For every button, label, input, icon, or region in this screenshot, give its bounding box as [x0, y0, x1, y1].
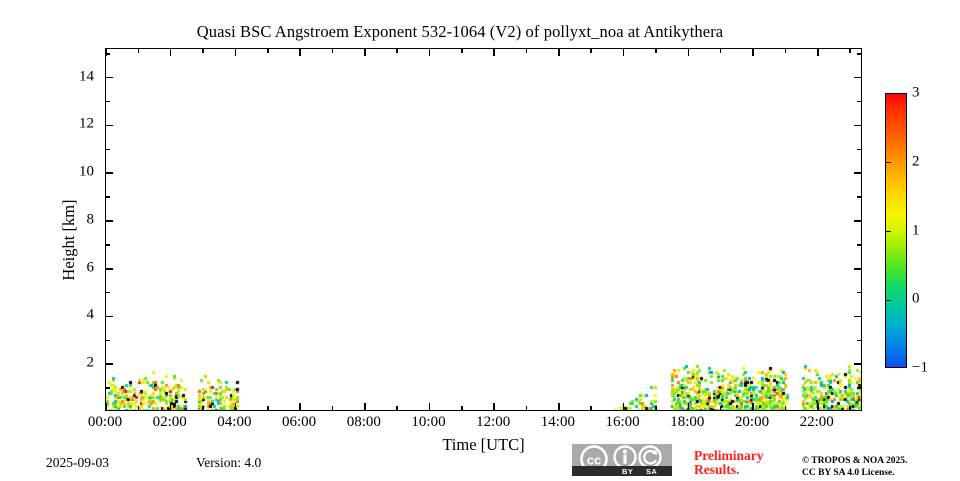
y-tick-major [106, 316, 113, 318]
x-tick-major [752, 49, 754, 56]
x-tick-major [493, 49, 495, 56]
y-tick-major [854, 363, 861, 365]
y-tick-minor [106, 292, 110, 294]
x-tick-label: 10:00 [411, 414, 445, 431]
cc-by-label: BY [622, 467, 633, 476]
x-tick-label: 22:00 [800, 414, 834, 431]
x-tick-minor [526, 406, 528, 410]
y-tick-major [854, 268, 861, 270]
y-tick-label: 14 [50, 68, 94, 85]
preliminary-line-2: Results. [694, 463, 814, 477]
footer-date: 2025-09-03 [46, 455, 109, 471]
y-tick-major [106, 172, 113, 174]
x-tick-major [364, 403, 366, 410]
x-tick-minor [138, 406, 140, 410]
colorbar [885, 93, 907, 368]
y-tick-minor [106, 196, 110, 198]
x-tick-minor [267, 406, 269, 410]
x-tick-minor [138, 49, 140, 53]
y-tick-major [106, 268, 113, 270]
x-tick-minor [590, 49, 592, 53]
x-tick-minor [396, 49, 398, 53]
y-tick-minor [106, 340, 110, 342]
y-tick-major [854, 172, 861, 174]
x-tick-major [558, 49, 560, 56]
x-tick-label: 02:00 [153, 414, 187, 431]
x-tick-minor [202, 406, 204, 410]
x-tick-major [235, 403, 237, 410]
x-tick-major [170, 49, 172, 56]
copyright-line-1: © TROPOS & NOA 2025. [802, 456, 907, 468]
x-tick-major [105, 403, 107, 410]
colorbar-tick-label: 2 [912, 153, 920, 170]
y-tick-minor [857, 101, 861, 103]
x-tick-major [170, 403, 172, 410]
x-tick-minor [849, 49, 851, 53]
y-tick-label: 12 [50, 116, 94, 133]
colorbar-tick-label: 0 [912, 291, 920, 308]
x-tick-minor [849, 406, 851, 410]
x-tick-minor [720, 49, 722, 53]
x-tick-major [299, 403, 301, 410]
x-tick-minor [202, 49, 204, 53]
colorbar-tick-label: 1 [912, 222, 920, 239]
x-tick-label: 14:00 [541, 414, 575, 431]
y-tick-major [106, 125, 113, 127]
x-tick-minor [590, 406, 592, 410]
footer-version: Version: 4.0 [196, 455, 261, 471]
y-tick-major [854, 125, 861, 127]
y-axis-label: Height [km] [59, 140, 79, 340]
copyright-notice: © TROPOS & NOA 2025. CC BY SA 4.0 Licens… [802, 456, 907, 479]
x-tick-label: 12:00 [476, 414, 510, 431]
y-tick-minor [106, 149, 110, 151]
x-tick-minor [461, 49, 463, 53]
x-tick-major [558, 403, 560, 410]
preliminary-results-notice: Preliminary Results. [694, 449, 814, 477]
y-tick-major [106, 363, 113, 365]
x-tick-minor [526, 49, 528, 53]
colorbar-tick-label: 3 [912, 85, 920, 102]
x-tick-minor [655, 49, 657, 53]
x-tick-major [752, 403, 754, 410]
y-tick-label: 2 [50, 355, 94, 372]
y-tick-minor [106, 387, 110, 389]
creative-commons-badge[interactable]: cc BY SA [572, 444, 672, 476]
colorbar-tick [886, 231, 891, 232]
y-tick-major [854, 220, 861, 222]
x-tick-major [623, 49, 625, 56]
y-tick-major [854, 316, 861, 318]
scatter-data-canvas [106, 49, 861, 410]
y-tick-minor [857, 244, 861, 246]
x-tick-major [235, 49, 237, 56]
y-tick-minor [106, 53, 110, 55]
x-tick-label: 08:00 [347, 414, 381, 431]
x-tick-major [623, 403, 625, 410]
x-tick-minor [396, 406, 398, 410]
x-tick-major [817, 403, 819, 410]
x-tick-minor [785, 49, 787, 53]
plot-axes [105, 48, 862, 411]
y-tick-major [854, 77, 861, 79]
x-tick-minor [461, 406, 463, 410]
x-tick-label: 18:00 [670, 414, 704, 431]
x-tick-major [299, 49, 301, 56]
x-tick-label: 16:00 [606, 414, 640, 431]
page-title: Quasi BSC Angstroem Exponent 532-1064 (V… [0, 22, 920, 42]
x-tick-major [429, 49, 431, 56]
x-tick-major [817, 49, 819, 56]
x-tick-minor [720, 406, 722, 410]
y-tick-minor [857, 53, 861, 55]
x-tick-minor [332, 49, 334, 53]
y-tick-major [106, 77, 113, 79]
x-tick-major [364, 49, 366, 56]
x-tick-label: 04:00 [217, 414, 251, 431]
x-tick-major [688, 403, 690, 410]
x-tick-label: 20:00 [735, 414, 769, 431]
x-tick-major [493, 403, 495, 410]
x-tick-minor [785, 406, 787, 410]
x-tick-minor [267, 49, 269, 53]
copyright-line-2: CC BY SA 4.0 License. [802, 468, 907, 480]
colorbar-tick [886, 162, 891, 163]
y-tick-minor [857, 149, 861, 151]
y-tick-minor [106, 101, 110, 103]
plot-area [106, 49, 861, 410]
x-tick-label: 00:00 [88, 414, 122, 431]
x-tick-minor [332, 406, 334, 410]
y-tick-minor [857, 340, 861, 342]
y-tick-minor [857, 292, 861, 294]
colorbar-tick-label: −1 [912, 360, 928, 377]
x-tick-minor [655, 406, 657, 410]
x-tick-label: 06:00 [282, 414, 316, 431]
cc-sa-label: SA [646, 467, 657, 476]
preliminary-line-1: Preliminary [694, 449, 814, 463]
y-tick-minor [857, 387, 861, 389]
quicklook-plot-page: Quasi BSC Angstroem Exponent 532-1064 (V… [0, 0, 960, 480]
x-tick-major [429, 403, 431, 410]
x-tick-major [688, 49, 690, 56]
y-tick-minor [857, 196, 861, 198]
colorbar-tick [886, 300, 891, 301]
y-tick-major [106, 220, 113, 222]
y-tick-minor [106, 244, 110, 246]
